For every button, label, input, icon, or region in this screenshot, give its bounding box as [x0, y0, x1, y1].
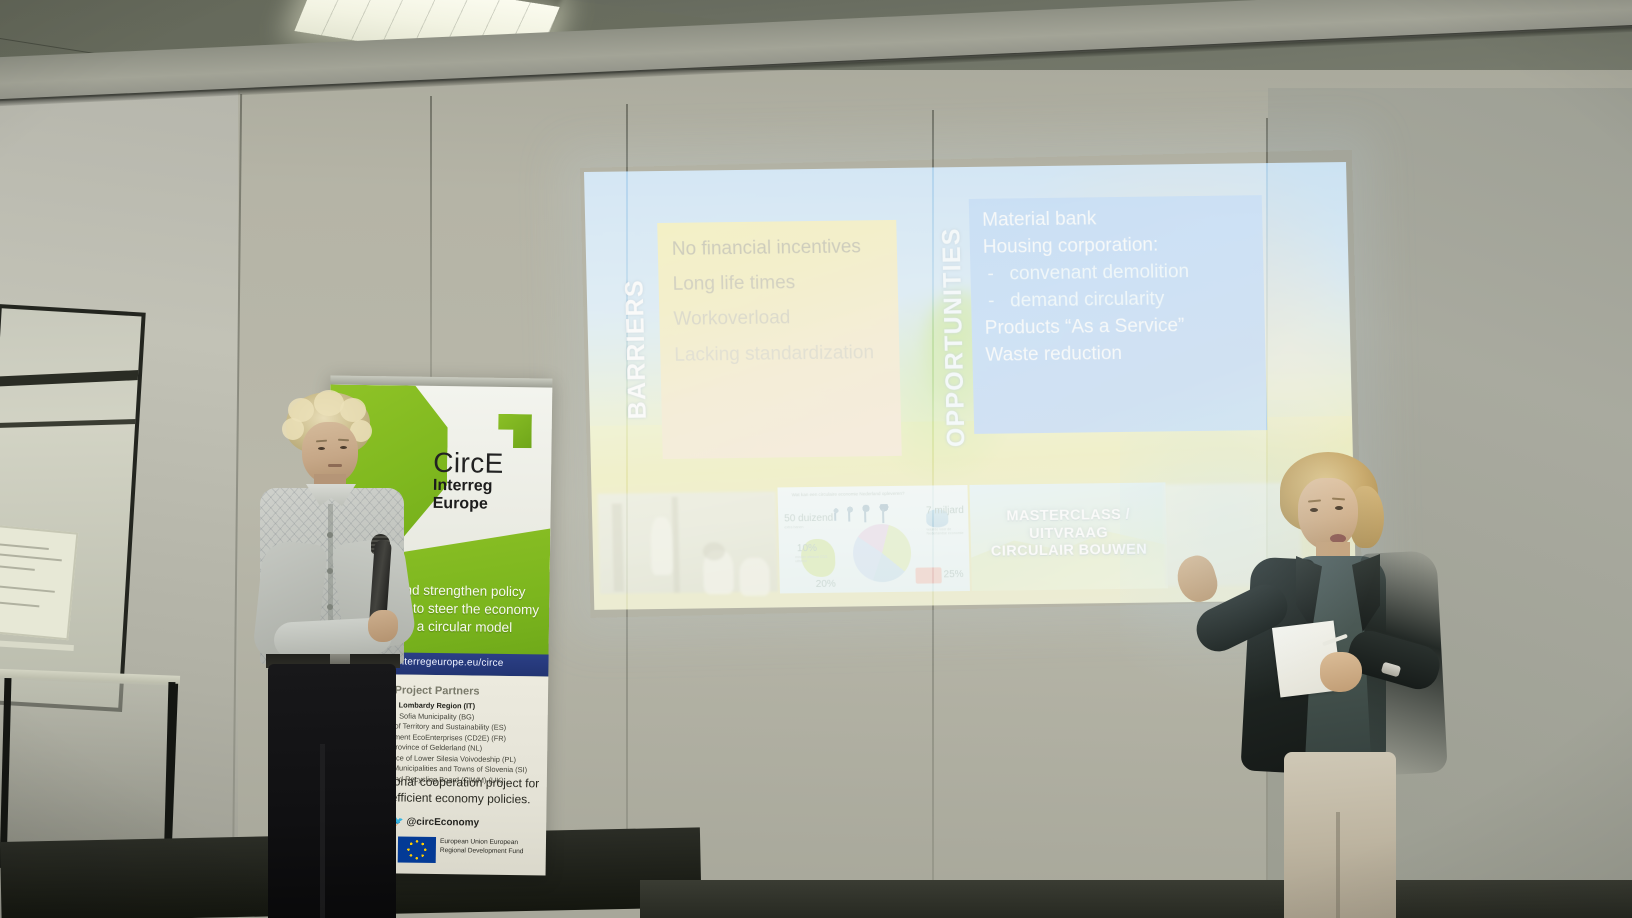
stat-value: 25% — [943, 569, 963, 580]
interior-beam — [0, 369, 146, 387]
opportunity-item: Waste reduction — [985, 339, 1256, 369]
barriers-vertical-label: BARRIERS — [619, 229, 652, 419]
workshop-photo — [598, 492, 778, 594]
bullet-dash: - — [987, 261, 1010, 288]
presentation-room-photo: BARRIERS No financial incentives Long li… — [0, 0, 1632, 918]
shirt-button — [327, 532, 333, 538]
eu-funding-text: European Union European Regional Develop… — [440, 838, 536, 857]
stat-caption: minder uitstoot CO2-uitstoot — [795, 555, 829, 564]
eye — [340, 446, 347, 449]
opportunity-text: Material bank — [982, 208, 1097, 230]
mouth — [328, 464, 342, 467]
masterclass-panel: MASTERCLASS / UITVRAAG CIRCULAIR BOUWEN — [969, 482, 1167, 591]
stat-value: 20% — [816, 579, 836, 590]
poster-text-line — [0, 543, 49, 550]
donut-chart — [852, 524, 911, 583]
banner-brand: CircE — [433, 447, 549, 481]
barrier-item: No financial incentives — [672, 234, 886, 263]
opportunity-text: Housing corporation: — [983, 234, 1159, 257]
person-body — [834, 513, 836, 521]
trouser-seam — [1336, 812, 1340, 918]
opportunity-item: -demand circularity — [984, 285, 1255, 315]
opportunity-item: -convenant demolition — [983, 258, 1254, 288]
lower-hand — [1320, 652, 1362, 692]
opportunity-text: Waste reduction — [985, 343, 1122, 366]
person-body — [848, 512, 850, 522]
barriers-box: No financial incentives Long life times … — [657, 220, 902, 459]
glass-partition-window — [0, 304, 146, 712]
photo-person — [650, 517, 673, 575]
photo-shape — [612, 504, 624, 592]
wall-panel-seam — [430, 96, 432, 396]
person-body — [864, 510, 866, 522]
trousers — [1284, 752, 1396, 918]
stat-value: 50 duizend — [784, 513, 833, 525]
person-body — [882, 509, 884, 523]
photo-person — [739, 558, 770, 596]
poster-text-line — [0, 601, 39, 608]
barrier-item: Workoverload — [673, 304, 887, 333]
bullet-dash: - — [988, 288, 1011, 315]
stat-caption: waarde voor de Nederlandse economie — [926, 527, 968, 537]
opportunities-vertical-label: OPPORTUNITIES — [937, 197, 972, 447]
poster-text-line — [0, 585, 55, 593]
opportunity-text: convenant demolition — [1009, 261, 1189, 284]
interior-shelf — [0, 639, 74, 651]
container-icon — [915, 567, 941, 583]
masterclass-title: MASTERCLASS / UITVRAAG CIRCULAIR BOUWEN — [970, 506, 1167, 562]
opportunities-box: Material bank Housing corporation: -conv… — [969, 195, 1268, 434]
side-table-panel — [0, 676, 178, 851]
shirt-button — [327, 568, 333, 574]
barrier-item: Lacking standardization — [674, 340, 888, 369]
infographic-title: Wat kan een circulaire economie Nederlan… — [792, 491, 905, 497]
hand — [368, 610, 398, 642]
stat-value: 7 miljard — [926, 505, 964, 516]
female-presenter — [1180, 452, 1470, 918]
opportunity-text: demand circularity — [1010, 288, 1165, 311]
poster-text-line — [0, 565, 35, 571]
opportunity-item: Products “As a Service” — [984, 312, 1255, 342]
opportunity-text: Products “As a Service” — [985, 315, 1185, 339]
face — [1298, 478, 1358, 550]
trouser-seam — [320, 744, 325, 918]
opportunity-item: Material bank — [982, 204, 1253, 234]
barrier-item: Long life times — [672, 269, 886, 298]
photo-shape — [672, 497, 680, 593]
masterclass-line-3: CIRCULAIR BOUWEN — [971, 542, 1167, 562]
eye — [318, 447, 325, 450]
eye — [1335, 506, 1343, 510]
raised-hand — [1172, 552, 1221, 607]
hair-curl — [282, 418, 304, 440]
trousers — [268, 664, 396, 918]
stat-value: 10% — [797, 543, 817, 554]
circular-economy-infographic: Wat kan een circulaire economie Nederlan… — [777, 485, 969, 593]
opportunity-item: Housing corporation: — [983, 231, 1254, 261]
male-presenter — [244, 392, 420, 918]
interior-beam — [0, 418, 146, 428]
floor-right — [640, 880, 1632, 918]
poster-text-line — [0, 553, 62, 562]
wall-poster — [0, 524, 78, 640]
banner-programme: Interreg Europe — [433, 477, 549, 515]
shirt-button — [327, 604, 333, 610]
hair-curl — [340, 398, 366, 422]
stat-caption: extra banen — [784, 525, 824, 530]
eye — [1310, 508, 1318, 512]
